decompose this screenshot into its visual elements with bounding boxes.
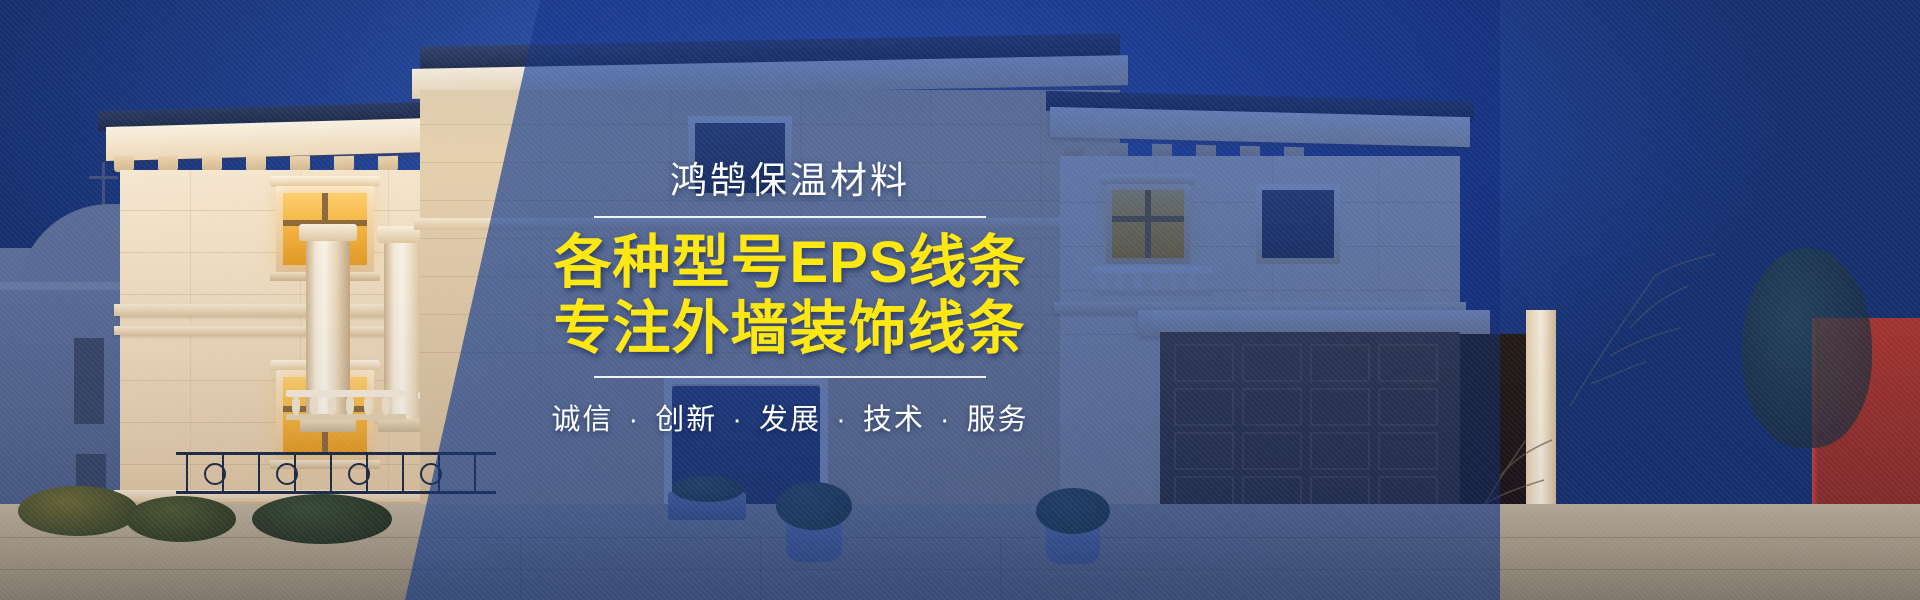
tagline-item: 技术 xyxy=(863,404,925,436)
banner-content: 鸿鹄保温材料 各种型号EPS线条 专注外墙装饰线条 诚信 · 创新 · 发展 ·… xyxy=(560,0,1020,600)
divider-top xyxy=(594,216,986,218)
brand-name: 鸿鹄保温材料 xyxy=(670,162,910,199)
divider-bottom xyxy=(594,376,986,378)
tagline-item: 诚信 xyxy=(551,404,613,436)
headline-line-2: 专注外墙装饰线条 xyxy=(553,298,1026,359)
tagline-item: 服务 xyxy=(967,404,1029,436)
tagline-separator: · xyxy=(623,404,645,436)
headline-line-1: 各种型号EPS线条 xyxy=(553,232,1026,293)
tagline-item: 创新 xyxy=(655,404,717,436)
tagline-separator: · xyxy=(831,404,853,436)
promo-banner: 鸿鹄保温材料 各种型号EPS线条 专注外墙装饰线条 诚信 · 创新 · 发展 ·… xyxy=(0,0,1920,600)
tagline-separator: · xyxy=(935,404,957,436)
tagline-separator: · xyxy=(727,404,749,436)
headline: 各种型号EPS线条 专注外墙装饰线条 xyxy=(553,232,1026,359)
tagline: 诚信 · 创新 · 发展 · 技术 · 服务 xyxy=(551,396,1028,438)
tagline-item: 发展 xyxy=(759,404,821,436)
